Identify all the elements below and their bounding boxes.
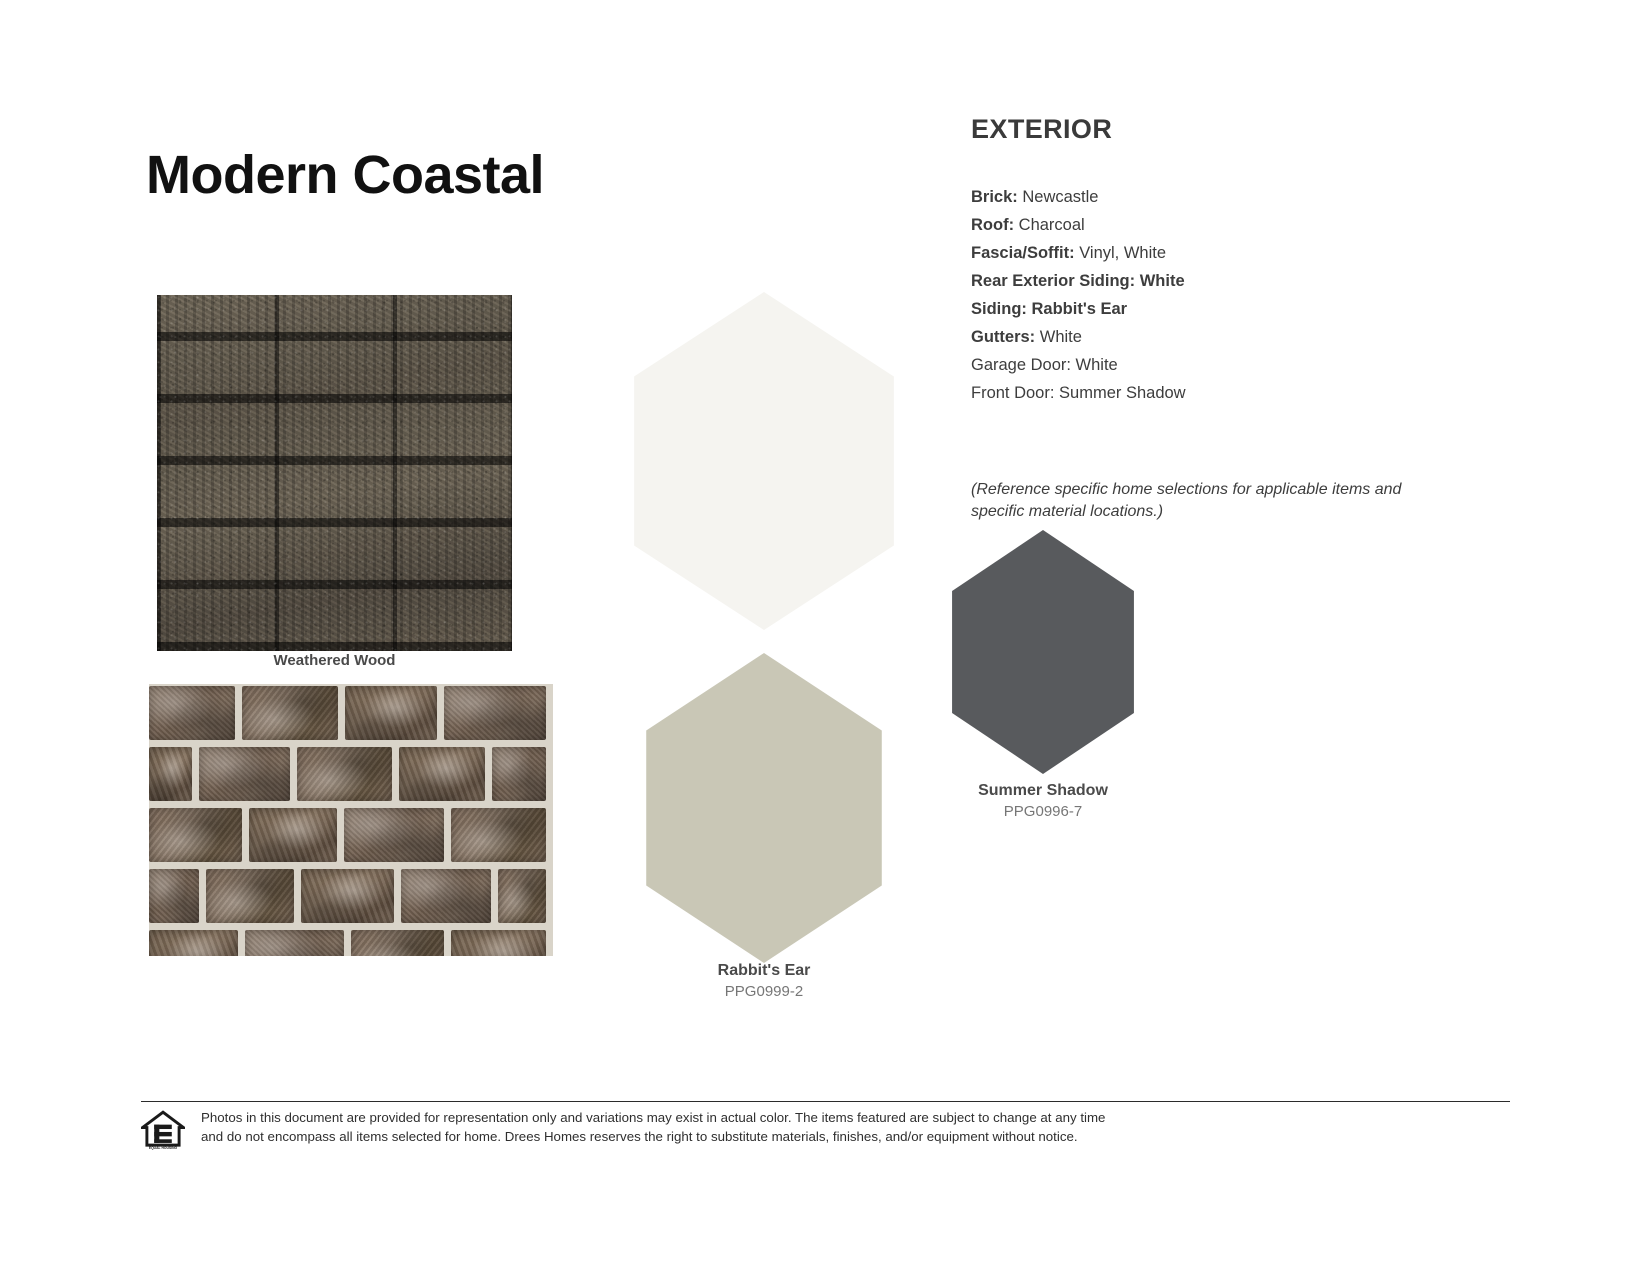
spec-value: Newcastle [1018, 188, 1099, 206]
footer: EQUAL HOUSING Photos in this document ar… [141, 1108, 1510, 1156]
spec-row-front-door: Front Door: Summer Shadow [971, 379, 1441, 407]
swatch-caption-rabbits-ear: Rabbit's Ear PPG0999-2 [628, 960, 900, 1002]
shingle-granule-texture [157, 295, 512, 651]
spec-row-brick: Brick: Newcastle [971, 183, 1441, 211]
spec-label: Rear Exterior Siding: [971, 272, 1135, 290]
footer-disclaimer-line-2: and do not encompass all items selected … [201, 1127, 1105, 1146]
color-swatch-rabbits-ear [628, 653, 900, 963]
swatch-name: Rabbit's Ear [628, 960, 900, 982]
spec-row-roof: Roof: Charcoal [971, 211, 1441, 239]
brick-photo [149, 684, 553, 956]
exterior-selection-sheet: { "page": { "title": "Modern Coastal" },… [0, 0, 1650, 1275]
shingle-caption: Weathered Wood [157, 652, 512, 669]
exterior-section-heading: EXTERIOR [971, 114, 1112, 145]
spec-row-rear-exterior-siding: Rear Exterior Siding: White [971, 267, 1441, 295]
swatch-name: Summer Shadow [938, 780, 1148, 802]
exterior-spec-list: Brick: Newcastle Roof: Charcoal Fascia/S… [971, 183, 1441, 407]
spec-value: Rabbit's Ear [1027, 300, 1127, 318]
spec-label: Gutters: [971, 328, 1035, 346]
spec-label: Front Door: [971, 384, 1054, 402]
equal-housing-opportunity-icon: EQUAL HOUSING [141, 1108, 185, 1156]
svg-text:EQUAL HOUSING: EQUAL HOUSING [149, 1146, 178, 1150]
color-swatch-white [614, 292, 914, 630]
swatch-code: PPG0996-7 [938, 802, 1148, 822]
spec-label: Garage Door: [971, 356, 1071, 374]
spec-value: White [1035, 328, 1082, 346]
spec-label: Brick: [971, 188, 1018, 206]
spec-row-garage-door: Garage Door: White [971, 351, 1441, 379]
spec-value: White [1135, 272, 1185, 290]
swatch-caption-summer-shadow: Summer Shadow PPG0996-7 [938, 780, 1148, 822]
spec-value: Vinyl, White [1075, 244, 1166, 262]
spec-row-siding: Siding: Rabbit's Ear [971, 295, 1441, 323]
color-swatch-summer-shadow [938, 530, 1148, 774]
spec-value: Summer Shadow [1054, 384, 1185, 402]
spec-row-fascia-soffit: Fascia/Soffit: Vinyl, White [971, 239, 1441, 267]
spec-label: Roof: [971, 216, 1014, 234]
page-title: Modern Coastal [146, 144, 544, 206]
spec-value: Charcoal [1014, 216, 1085, 234]
roof-shingle-photo [157, 295, 512, 651]
spec-label: Siding: [971, 300, 1027, 318]
spec-label: Fascia/Soffit: [971, 244, 1075, 262]
footer-disclaimer: Photos in this document are provided for… [201, 1108, 1105, 1146]
footer-divider [141, 1101, 1510, 1102]
spec-value: White [1071, 356, 1118, 374]
swatch-code: PPG0999-2 [628, 982, 900, 1002]
spec-row-gutters: Gutters: White [971, 323, 1441, 351]
reference-note: (Reference specific home selections for … [971, 479, 1411, 523]
footer-disclaimer-line-1: Photos in this document are provided for… [201, 1108, 1105, 1127]
